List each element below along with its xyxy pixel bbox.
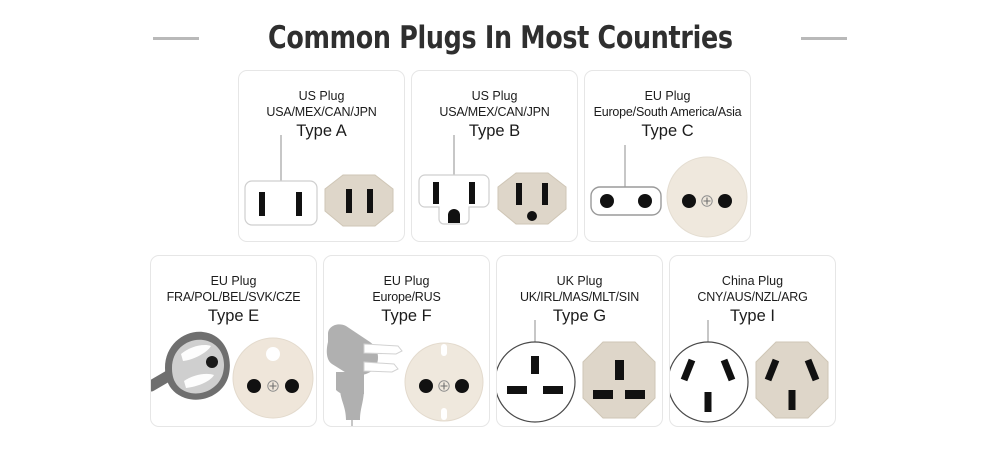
card-codes: Europe/RUS [324, 289, 489, 305]
card-codes: USA/MEX/CAN/JPN [412, 104, 577, 120]
card-codes: UK/IRL/MAS/MLT/SIN [497, 289, 662, 305]
plug-illustration-type-i [670, 320, 837, 426]
card-codes: USA/MEX/CAN/JPN [239, 104, 404, 120]
card-labels: China Plug CNY/AUS/NZL/ARG Type I [670, 273, 835, 327]
plug-card-type-b[interactable]: US Plug USA/MEX/CAN/JPN Type B [411, 70, 578, 242]
card-labels: EU Plug FRA/POL/BEL/SVK/CZE Type E [151, 273, 316, 327]
plug-illustration-type-a [239, 135, 406, 241]
plug-card-type-e[interactable]: EU Plug FRA/POL/BEL/SVK/CZE Type E [150, 255, 317, 427]
plug-card-type-i[interactable]: China Plug CNY/AUS/NZL/ARG Type I [669, 255, 836, 427]
plug-illustration-type-e [151, 320, 318, 426]
plug-row-bottom: EU Plug FRA/POL/BEL/SVK/CZE Type E [150, 255, 836, 427]
plug-card-type-a[interactable]: US Plug USA/MEX/CAN/JPN Type A [238, 70, 405, 242]
card-codes: FRA/POL/BEL/SVK/CZE [151, 289, 316, 305]
card-codes: Europe/South America/Asia [585, 104, 750, 120]
plug-card-type-c[interactable]: EU Plug Europe/South America/Asia Type C [584, 70, 751, 242]
title-rule-left [153, 37, 199, 40]
card-codes: CNY/AUS/NZL/ARG [670, 289, 835, 305]
card-country: China Plug [670, 273, 835, 289]
card-labels: US Plug USA/MEX/CAN/JPN Type B [412, 88, 577, 142]
card-country: US Plug [239, 88, 404, 104]
plug-row-top: US Plug USA/MEX/CAN/JPN Type A US Plug U… [238, 70, 751, 242]
page-title-row: Common Plugs In Most Countries [0, 16, 1000, 60]
card-labels: US Plug USA/MEX/CAN/JPN Type A [239, 88, 404, 142]
card-country: US Plug [412, 88, 577, 104]
card-country: EU Plug [585, 88, 750, 104]
plug-illustration-type-b [412, 135, 579, 241]
infographic-page: { "title": { "text": "Common Plugs In Mo… [0, 0, 1000, 453]
card-country: EU Plug [151, 273, 316, 289]
plug-illustration-type-f [324, 320, 491, 426]
plug-illustration-type-g [497, 320, 664, 426]
card-labels: EU Plug Europe/South America/Asia Type C [585, 88, 750, 142]
plug-illustration-type-c [585, 135, 752, 241]
plug-card-type-f[interactable]: EU Plug Europe/RUS Type F [323, 255, 490, 427]
card-country: EU Plug [324, 273, 489, 289]
page-title: Common Plugs In Most Countries [268, 20, 733, 56]
card-labels: EU Plug Europe/RUS Type F [324, 273, 489, 327]
card-country: UK Plug [497, 273, 662, 289]
plug-card-type-g[interactable]: UK Plug UK/IRL/MAS/MLT/SIN Type G [496, 255, 663, 427]
card-labels: UK Plug UK/IRL/MAS/MLT/SIN Type G [497, 273, 662, 327]
title-rule-right [801, 37, 847, 40]
